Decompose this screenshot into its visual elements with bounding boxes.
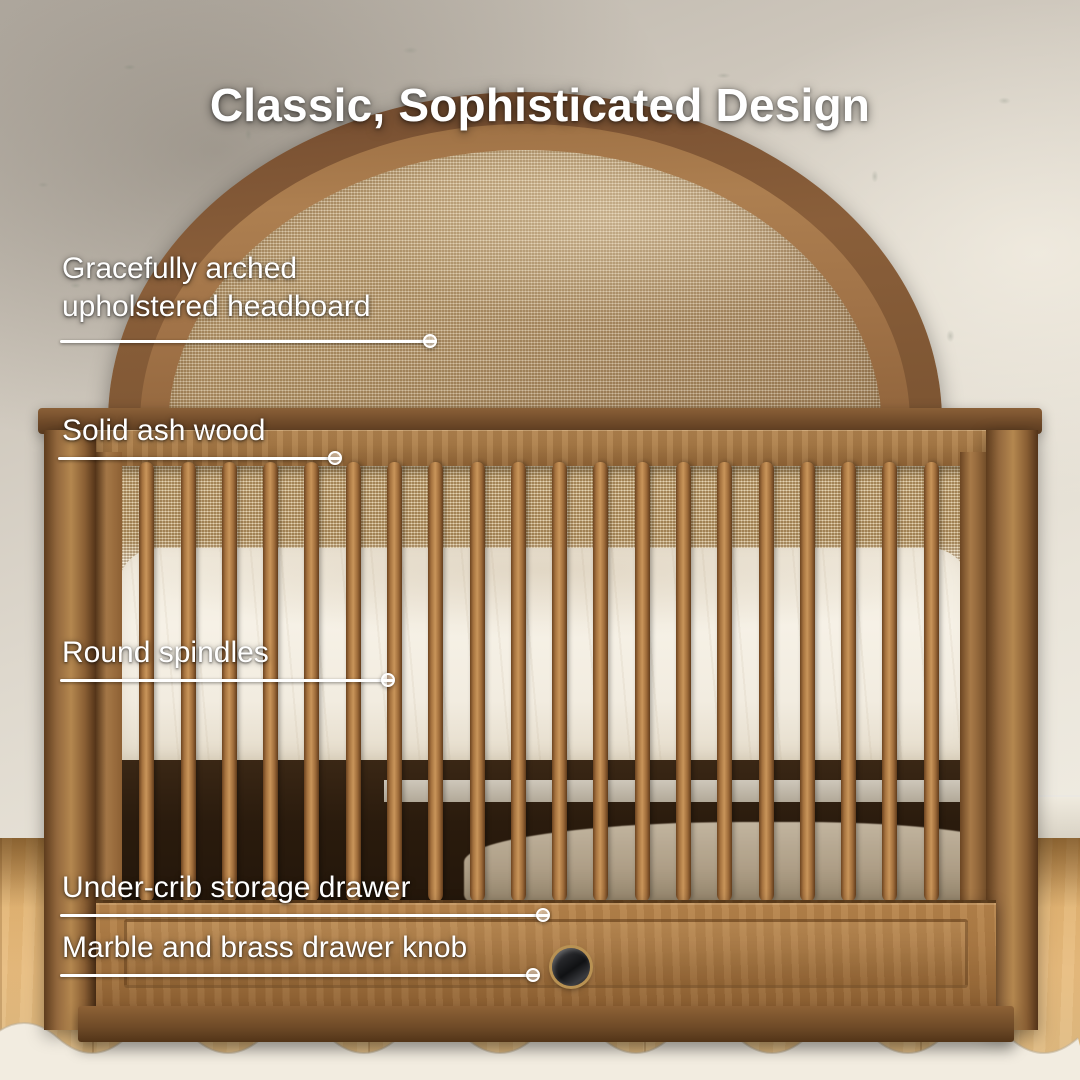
leader-line-stroke: [60, 679, 394, 682]
leader-line-storage-drawer: [60, 908, 549, 922]
callout-spindles: Round spindles: [62, 634, 269, 672]
spindle: [841, 462, 856, 902]
leader-endpoint-dot: [381, 673, 395, 687]
callout-knob: Marble and brass drawer knob: [62, 929, 467, 967]
leader-line-stroke: [60, 340, 436, 343]
leader-endpoint-dot: [526, 968, 540, 982]
spindle: [924, 462, 939, 902]
leader-line-knob: [60, 968, 539, 982]
spindle: [635, 462, 650, 902]
spindle: [593, 462, 608, 902]
callout-wood: Solid ash wood: [62, 412, 265, 450]
spindle: [511, 462, 526, 902]
callout-headboard-label: Gracefully arched upholstered headboard: [62, 250, 371, 327]
leader-endpoint-dot: [423, 334, 437, 348]
spindle: [676, 462, 691, 902]
callout-storage-drawer-label: Under-crib storage drawer: [62, 869, 410, 907]
leader-line-stroke: [58, 457, 341, 460]
leader-line-stroke: [60, 974, 539, 977]
callout-spindles-label: Round spindles: [62, 634, 269, 672]
callout-knob-label: Marble and brass drawer knob: [62, 929, 467, 967]
leader-line-spindles: [60, 673, 394, 687]
spindle: [882, 462, 897, 902]
leader-line-wood: [58, 451, 341, 465]
spindle: [552, 462, 567, 902]
spindle: [717, 462, 732, 902]
page-title: Classic, Sophisticated Design: [0, 78, 1080, 132]
spindle: [759, 462, 774, 902]
crib-base-molding: [78, 1006, 1014, 1042]
leader-endpoint-dot: [536, 908, 550, 922]
spindle: [470, 462, 485, 902]
callout-headboard: Gracefully arched upholstered headboard: [62, 250, 371, 327]
leader-endpoint-dot: [328, 451, 342, 465]
spindle: [800, 462, 815, 902]
crib-inner-stile-left: [96, 452, 122, 922]
crib-inner-stile-right: [960, 452, 986, 922]
spindle: [428, 462, 443, 902]
marble-brass-drawer-knob[interactable]: [552, 948, 590, 986]
infographic-canvas: Classic, Sophisticated Design Gracefully…: [0, 0, 1080, 1080]
leader-line-headboard: [60, 334, 436, 348]
leader-line-stroke: [60, 914, 549, 917]
callout-wood-label: Solid ash wood: [62, 412, 265, 450]
callout-storage-drawer: Under-crib storage drawer: [62, 869, 410, 907]
